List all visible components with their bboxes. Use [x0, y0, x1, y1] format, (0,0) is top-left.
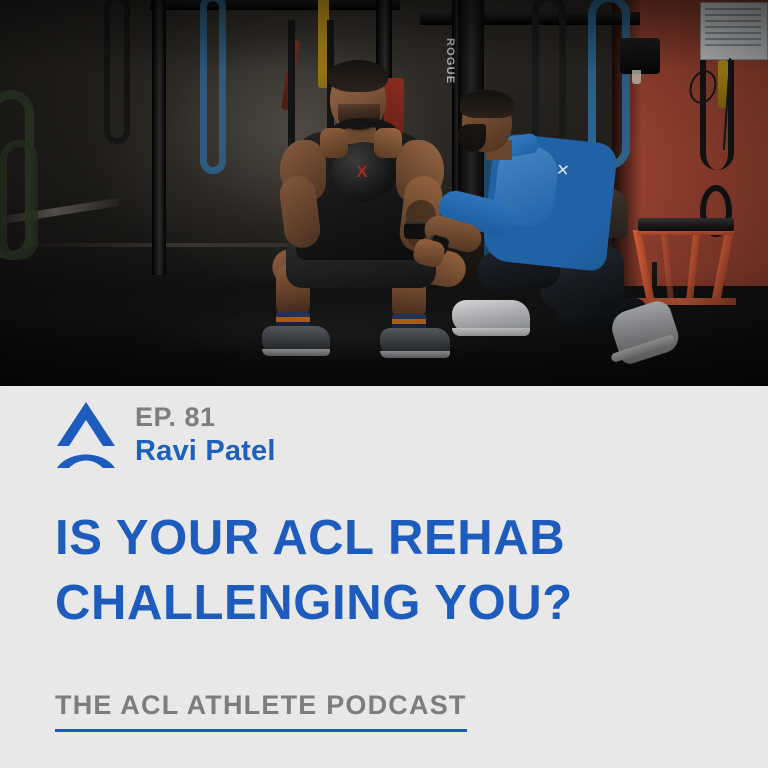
- athlete-left-hand: [320, 128, 348, 158]
- episode-text-block: EP. 81 Ravi Patel: [135, 402, 276, 468]
- black-strap-loop-left: [104, 0, 130, 144]
- coach-shirt-logo: ✕: [555, 161, 581, 183]
- hero-photo: ROGUE: [0, 0, 768, 386]
- episode-number: EP. 81: [135, 402, 276, 434]
- athlete-right-hand: [374, 128, 402, 158]
- plyo-box-top: [638, 218, 734, 231]
- athlete-wristwatch: [404, 222, 426, 239]
- show-name: THE ACL ATHLETE PODCAST: [55, 690, 467, 729]
- show-name-underline: [55, 729, 467, 732]
- acl-athlete-logo-icon: [55, 400, 117, 470]
- episode-guest-name: Ravi Patel: [135, 434, 276, 468]
- coach-front-shoe-sole: [452, 328, 530, 336]
- green-band-left-lower: [0, 140, 38, 260]
- black-strap-loop-right: [532, 0, 566, 149]
- coach-beard: [458, 124, 486, 152]
- athlete-right-shoe-sole: [380, 351, 450, 358]
- title-line-2: CHALLENGING YOU?: [55, 571, 715, 636]
- rig-upright-left: [152, 0, 166, 275]
- page-title: IS YOUR ACL REHAB CHALLENGING YOU?: [55, 506, 715, 635]
- athlete-hair: [328, 60, 388, 92]
- podcast-cover: ROGUE: [0, 0, 768, 768]
- dispenser-nozzle: [632, 70, 641, 84]
- wall-dispenser: [620, 38, 660, 74]
- rig-crossbar-left: [150, 0, 400, 10]
- wall-chart-lines: [705, 8, 761, 52]
- text-panel: EP. 81 Ravi Patel IS YOUR ACL REHAB CHAL…: [0, 386, 768, 768]
- kettlebell-logo: X: [352, 162, 372, 182]
- title-line-1: IS YOUR ACL REHAB: [55, 506, 715, 571]
- show-name-footer: THE ACL ATHLETE PODCAST: [55, 690, 467, 732]
- episode-header: EP. 81 Ravi Patel: [55, 400, 276, 470]
- athlete-left-shoe-sole: [262, 349, 330, 356]
- blue-band-left: [200, 0, 226, 174]
- coach-hair: [460, 90, 514, 118]
- rig-brand-label: ROGUE: [444, 38, 456, 84]
